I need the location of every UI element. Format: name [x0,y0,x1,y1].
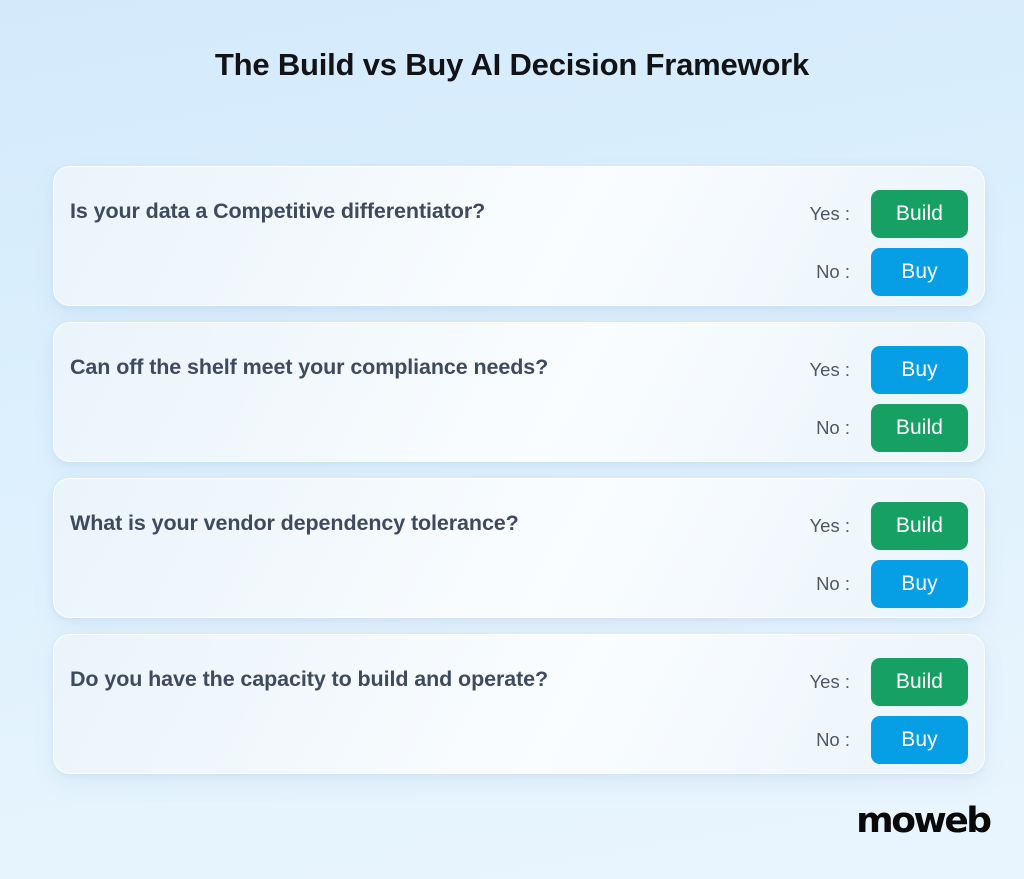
answer-label: No : [816,573,850,595]
answer-label: No : [816,729,850,751]
page-title: The Build vs Buy AI Decision Framework [0,0,1024,83]
buy-button[interactable]: Buy [871,716,968,764]
answer-label: Yes : [810,515,850,537]
decision-card: What is your vendor dependency tolerance… [53,478,985,618]
build-button[interactable]: Build [871,404,968,452]
build-button[interactable]: Build [871,658,968,706]
answer-row: Yes :Build [810,658,968,706]
question-text: Do you have the capacity to build and op… [70,658,810,693]
moweb-logo: moweb [856,801,990,841]
answer-label: No : [816,261,850,283]
answer-label: Yes : [810,359,850,381]
question-text: What is your vendor dependency tolerance… [70,502,810,537]
answer-label: Yes : [810,671,850,693]
answer-label: No : [816,417,850,439]
answer-group: Yes :BuildNo :Buy [810,502,968,608]
answer-row: Yes :Buy [810,346,968,394]
answer-row: No :Buy [810,716,968,764]
decision-card: Can off the shelf meet your compliance n… [53,322,985,462]
answer-group: Yes :BuyNo :Build [810,346,968,452]
answer-row: No :Build [810,404,968,452]
answer-group: Yes :BuildNo :Buy [810,190,968,296]
build-button[interactable]: Build [871,190,968,238]
question-text: Is your data a Competitive differentiato… [70,190,810,225]
decision-card: Is your data a Competitive differentiato… [53,166,985,306]
answer-row: Yes :Build [810,502,968,550]
buy-button[interactable]: Buy [871,560,968,608]
answer-row: No :Buy [810,248,968,296]
answer-group: Yes :BuildNo :Buy [810,658,968,764]
decision-card-list: Is your data a Competitive differentiato… [53,166,985,774]
decision-card: Do you have the capacity to build and op… [53,634,985,774]
answer-row: Yes :Build [810,190,968,238]
question-text: Can off the shelf meet your compliance n… [70,346,810,381]
answer-label: Yes : [810,203,850,225]
build-button[interactable]: Build [871,502,968,550]
buy-button[interactable]: Buy [871,248,968,296]
answer-row: No :Buy [810,560,968,608]
buy-button[interactable]: Buy [871,346,968,394]
